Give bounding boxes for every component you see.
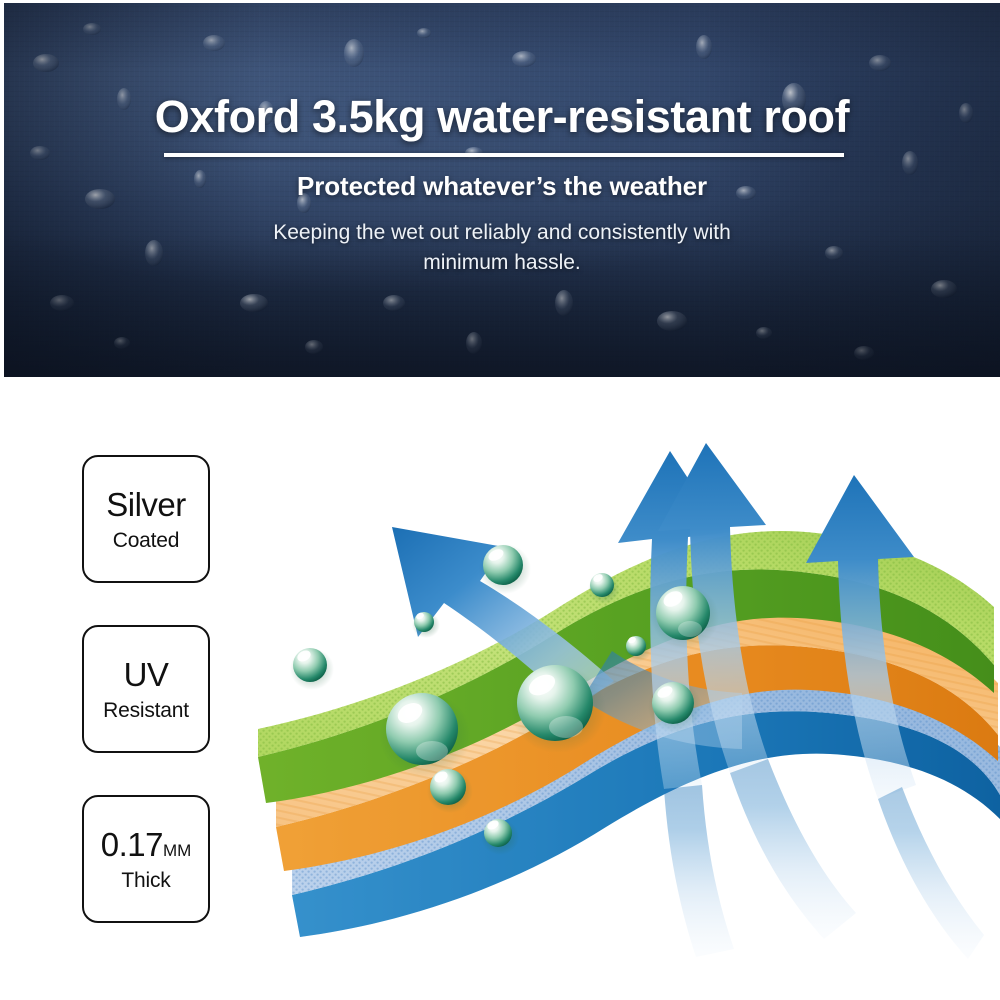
water-droplet [379, 693, 471, 777]
spec-badge-title: 0.17MM [101, 828, 192, 861]
spec-badge-subtitle: Resistant [103, 700, 189, 721]
spec-badge-uv-resistant: UV Resistant [82, 625, 210, 753]
hero-body-copy: Keeping the wet out reliably and consist… [4, 218, 1000, 279]
water-droplet [510, 665, 606, 753]
fabric-layer-diagram [250, 417, 1000, 977]
water-droplet [648, 681, 702, 733]
spec-badge-silver-coated: Silver Coated [82, 455, 210, 583]
water-droplet [290, 648, 334, 690]
product-feature-panel: Oxford 3.5kg water-resistant roof Protec… [0, 0, 1000, 1000]
fabric-layer-illustration [250, 417, 1000, 977]
spec-badge-value: 0.17 [101, 826, 163, 863]
hero-body-line-1: Keeping the wet out reliably and consist… [4, 218, 1000, 248]
title-underline-rule [164, 153, 844, 157]
spec-badge-unit: MM [163, 841, 191, 860]
water-droplet [479, 544, 531, 594]
spec-badge-title: Silver [106, 488, 186, 521]
hero-banner: Oxford 3.5kg water-resistant roof Protec… [4, 3, 1000, 377]
spec-badge-subtitle: Thick [121, 870, 170, 891]
spec-badge-thickness: 0.17MM Thick [82, 795, 210, 923]
water-droplet [427, 769, 473, 813]
spec-badge-title: UV [124, 658, 169, 691]
water-droplet [651, 585, 719, 649]
feature-diagram-panel: Silver Coated UV Resistant 0.17MM Thick [0, 377, 1000, 1000]
hero-body-line-2: minimum hassle. [4, 248, 1000, 278]
page-title: Oxford 3.5kg water-resistant roof [4, 91, 1000, 143]
spec-badge-subtitle: Coated [113, 530, 180, 551]
hero-subheadline: Protected whatever’s the weather [4, 171, 1000, 202]
